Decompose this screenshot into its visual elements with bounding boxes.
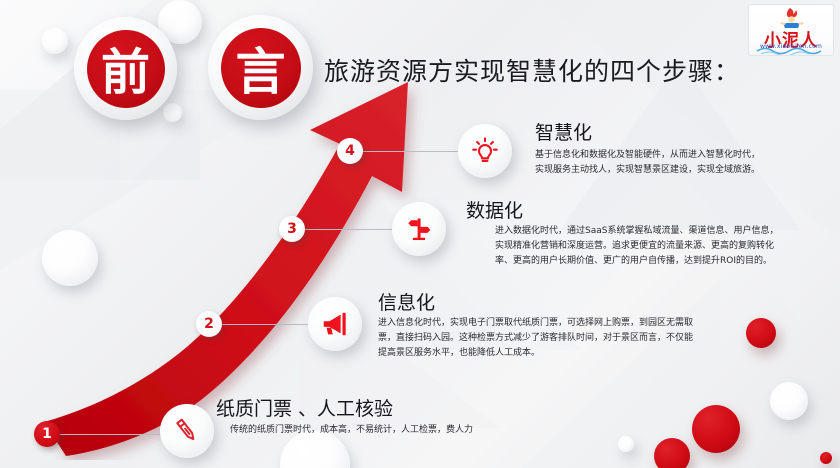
connector-line — [290, 229, 392, 230]
step-body-line: 传统的纸质门票时代，成本高，不易统计，人工检票，费人力 — [230, 423, 473, 438]
step-icon-lightbulb[interactable] — [458, 124, 512, 178]
step-icon-megaphone[interactable] — [308, 297, 362, 351]
step-number-1[interactable]: 1 — [34, 421, 60, 447]
pencil-icon — [172, 416, 202, 446]
step-icon-signpost[interactable] — [392, 202, 446, 256]
lightbulb-icon — [470, 136, 500, 166]
step-body-line: 基于信息化和数据化及智能硬件，从而进入智慧化时代， — [535, 148, 760, 163]
decorative-sphere — [692, 405, 740, 453]
decorative-sphere — [42, 28, 68, 54]
step-body-1: 传统的纸质门票时代，成本高，不易统计，人工检票，费人力 — [230, 423, 473, 438]
signpost-icon — [405, 215, 433, 243]
step-icon-pencil[interactable] — [160, 404, 214, 458]
step-body-2: 进入信息化时代，实现电子门票取代纸质门票，可选择网上购票，到园区无需取 票，直接… — [378, 316, 693, 361]
slide-canvas: 前 言 旅游资源方实现智慧化的四个步骤： 1 — [0, 0, 840, 468]
connector-line — [44, 434, 166, 435]
step-heading-4: 智慧化 — [535, 118, 592, 145]
step-body-line: 进入信息化时代，实现电子门票取代纸质门票，可选择网上购票，到园区无需取 — [378, 316, 693, 331]
step-body-line: 进入数据化时代，通过SaaS系统掌握私域流量、渠道信息、用户信息， — [495, 224, 778, 239]
step-number-3[interactable]: 3 — [279, 216, 305, 242]
step-heading-3: 数据化 — [466, 196, 523, 223]
step-body-line: 率、更高的用户长期价值、更广的用户自传播，达到提升ROI的目的。 — [495, 254, 778, 269]
connector-line — [208, 324, 308, 325]
step-body-4: 基于信息化和数据化及智能硬件，从而进入智慧化时代， 实现服务主动找人，实现智慧景… — [535, 148, 760, 178]
decorative-sphere — [820, 452, 832, 464]
step-number-2[interactable]: 2 — [196, 311, 222, 337]
decorative-sphere — [618, 436, 634, 452]
step-body-line: 提高景区服务水平，也能降低人工成本。 — [378, 346, 693, 361]
step-body-line: 实现服务主动找人，实现智慧景区建设，实现全域旅游。 — [535, 163, 760, 178]
step-body-line: 票，直接扫码入园。这种检票方式减少了游客排队时间，对于景区而言，不仅能 — [378, 331, 693, 346]
step-number-4[interactable]: 4 — [337, 138, 363, 164]
step-body-line: 实现精准化营销和深度运营。追求更便宜的流量来源、更高的复购转化 — [495, 239, 778, 254]
waves-icon — [755, 45, 827, 55]
step-heading-2: 信息化 — [378, 288, 435, 315]
megaphone-icon — [320, 309, 350, 339]
step-heading-1: 纸质门票 、人工核验 — [216, 394, 393, 421]
decorative-sphere — [654, 438, 690, 468]
logo[interactable]: 小泥人 www.xiaoniren.com — [748, 4, 834, 56]
decorative-sphere — [746, 318, 776, 348]
step-body-3: 进入数据化时代，通过SaaS系统掌握私域流量、渠道信息、用户信息， 实现精准化营… — [495, 224, 778, 269]
decorative-sphere — [770, 382, 808, 420]
